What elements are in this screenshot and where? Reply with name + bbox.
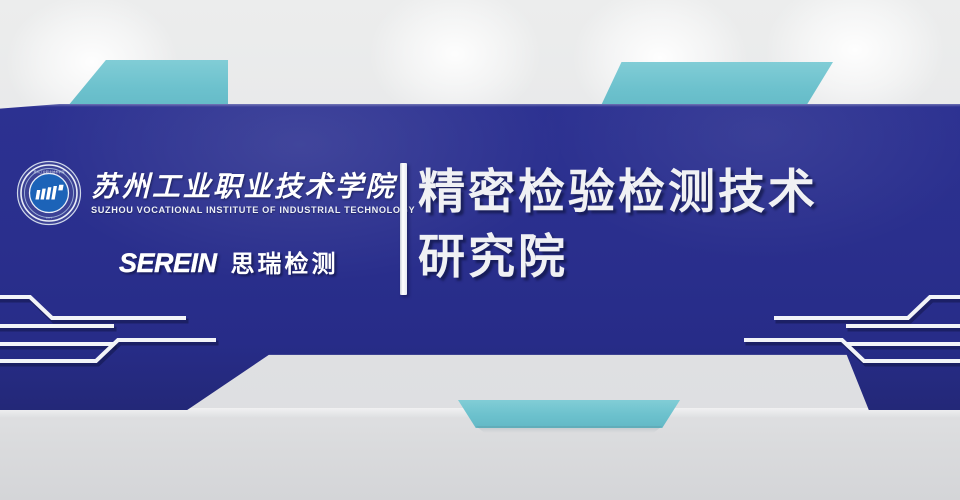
partner-logo-en: SEREIN	[119, 248, 217, 279]
brand-block: 苏州工业职业技术学院 S I I T 苏州工业职业技术学院 SUZHOU VOC…	[16, 160, 396, 279]
page-title-line1: 精密检验检测技术	[418, 160, 948, 225]
university-seal-icon: 苏州工业职业技术学院 S I I T	[16, 160, 82, 226]
page-title-line2: 研究院	[418, 225, 948, 290]
panel-top-highlight	[0, 104, 960, 107]
school-name-en: SUZHOU VOCATIONAL INSTITUTE OF INDUSTRIA…	[91, 205, 415, 215]
teal-accent-bottom-shadow	[458, 426, 680, 433]
page-title: 精密检验检测技术 研究院	[418, 160, 948, 290]
partner-identity-row: SEREIN 思瑞检测	[119, 244, 396, 279]
teal-accent-bottom	[458, 400, 680, 428]
school-name-cn: 苏州工业职业技术学院	[91, 173, 415, 203]
svg-text:苏州工业职业技术学院: 苏州工业职业技术学院	[34, 169, 65, 174]
vertical-divider	[400, 163, 407, 295]
partner-logo-cn: 思瑞检测	[231, 244, 339, 279]
svg-text:S I I T: S I I T	[46, 217, 53, 220]
school-name-group: 苏州工业职业技术学院 SUZHOU VOCATIONAL INSTITUTE O…	[91, 171, 415, 214]
school-identity-row: 苏州工业职业技术学院 S I I T 苏州工业职业技术学院 SUZHOU VOC…	[16, 160, 396, 226]
signage-scene: 苏州工业职业技术学院 S I I T 苏州工业职业技术学院 SUZHOU VOC…	[0, 0, 960, 500]
